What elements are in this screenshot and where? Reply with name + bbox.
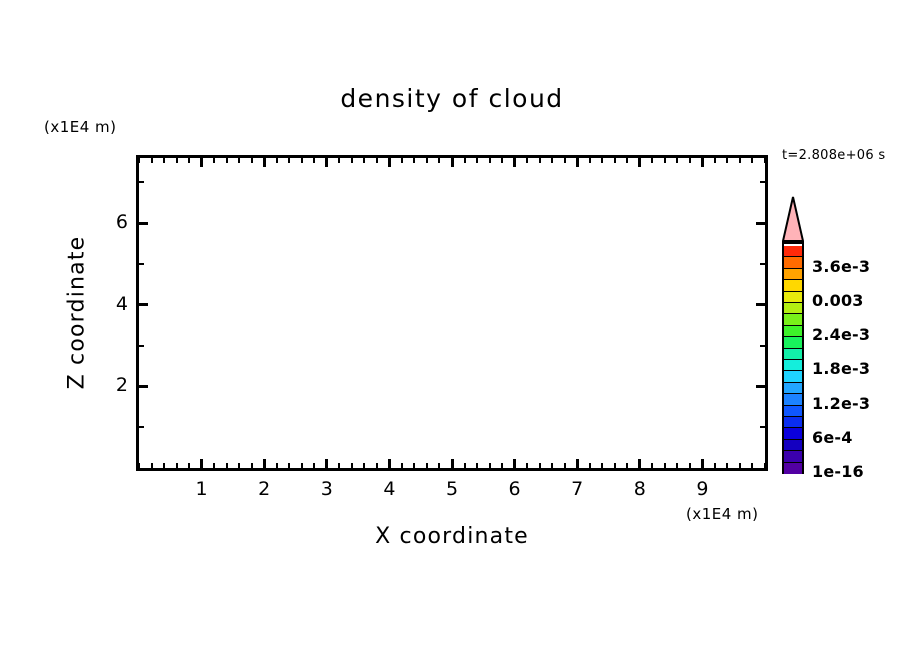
x-axis-minor-tick [138,158,140,163]
x-axis-minor-tick [301,158,303,163]
x-axis-major-tick [388,459,391,468]
x-axis-minor-tick [551,158,553,163]
x-axis-minor-tick [751,158,753,163]
x-axis-minor-tick [226,463,228,468]
x-axis-tick-label: 1 [182,478,222,500]
x-axis-minor-tick [526,463,528,468]
y-axis-major-tick [139,385,148,388]
x-axis-minor-tick [626,158,628,163]
x-axis-minor-tick [501,158,503,163]
x-axis-major-tick [451,459,454,468]
colorbar-tick-label: 3.6e-3 [812,257,870,276]
x-axis-minor-tick [376,463,378,468]
y-axis-unit-label: (x1E4 m) [44,118,117,136]
x-axis-tick-label: 4 [369,478,409,500]
x-axis-minor-tick [163,463,165,468]
x-axis-minor-tick [664,463,666,468]
colorbar-gradient [782,242,804,474]
x-axis-minor-tick [151,463,153,468]
x-axis-tick-label: 2 [244,478,284,500]
x-axis-tick-label: 3 [307,478,347,500]
x-axis-major-tick [263,459,266,468]
x-axis-minor-tick [313,158,315,163]
x-axis-minor-tick [213,463,215,468]
x-axis-minor-tick [564,463,566,468]
x-axis-tick-label: 6 [495,478,535,500]
x-axis-minor-tick [213,158,215,163]
x-axis-minor-tick [188,463,190,468]
x-axis-minor-tick [251,463,253,468]
x-axis-minor-tick [739,158,741,163]
x-axis-minor-tick [664,158,666,163]
colorbar: 3.6e-30.0032.4e-31.8e-31.2e-36e-41e-16 [780,196,904,486]
colorbar-tick-label: 0.003 [812,291,864,310]
colorbar-tick-label: 1e-16 [812,462,864,481]
x-axis-major-tick [200,459,203,468]
y-axis-major-tick [139,222,148,225]
y-axis-major-tick [756,222,765,225]
x-axis-minor-tick [489,463,491,468]
x-axis-minor-tick [676,463,678,468]
x-axis-minor-tick [564,158,566,163]
x-axis-tick-label: 5 [432,478,472,500]
colorbar-band [784,360,802,371]
y-axis-minor-tick [760,181,765,183]
x-axis-minor-tick [464,158,466,163]
colorbar-tick-label: 1.2e-3 [812,394,870,413]
y-axis-tick-label: 6 [88,211,128,233]
x-axis-major-tick [576,459,579,468]
x-axis-minor-tick [726,463,728,468]
x-axis-major-tick [513,459,516,468]
x-axis-minor-tick [689,158,691,163]
x-axis-minor-tick [614,158,616,163]
x-axis-minor-tick [614,463,616,468]
y-axis-major-tick [139,303,148,306]
x-axis-major-tick [638,158,641,167]
x-axis-major-tick [325,459,328,468]
x-axis-minor-tick [464,463,466,468]
colorbar-arrow-cap-icon [782,196,804,242]
colorbar-tick-label: 2.4e-3 [812,325,870,344]
colorbar-band [784,326,802,337]
x-axis-minor-tick [764,158,766,163]
y-axis-major-tick [756,385,765,388]
x-axis-major-tick [325,158,328,167]
x-axis-minor-tick [489,158,491,163]
x-axis-minor-tick [376,158,378,163]
y-axis-major-tick [756,303,765,306]
x-axis-major-tick [388,158,391,167]
x-axis-major-tick [701,158,704,167]
colorbar-band [784,394,802,405]
colorbar-band [784,428,802,439]
x-axis-minor-tick [363,463,365,468]
x-axis-minor-tick [438,158,440,163]
x-axis-minor-tick [601,463,603,468]
page-title: density of cloud [0,84,904,113]
y-axis-minor-tick [139,345,144,347]
x-axis-minor-tick [476,463,478,468]
x-axis-minor-tick [351,158,353,163]
x-axis-major-tick [200,158,203,167]
x-axis-minor-tick [176,463,178,468]
x-axis-minor-tick [751,463,753,468]
x-axis-minor-tick [676,158,678,163]
x-axis-minor-tick [651,463,653,468]
x-axis-unit-label: (x1E4 m) [686,505,759,523]
x-axis-minor-tick [338,463,340,468]
x-axis-major-tick [513,158,516,167]
colorbar-band [784,371,802,382]
y-axis-minor-tick [139,181,144,183]
x-axis-tick-label: 9 [682,478,722,500]
x-axis-minor-tick [726,158,728,163]
x-axis-minor-tick [238,158,240,163]
x-axis-major-tick [263,158,266,167]
x-axis-minor-tick [151,158,153,163]
x-axis-minor-tick [539,463,541,468]
x-axis-minor-tick [288,158,290,163]
x-axis-minor-tick [426,463,428,468]
x-axis-minor-tick [539,158,541,163]
y-axis-minor-tick [139,263,144,265]
x-axis-minor-tick [313,463,315,468]
x-axis-minor-tick [589,158,591,163]
x-axis-minor-tick [689,463,691,468]
x-axis-minor-tick [714,158,716,163]
x-axis-minor-tick [413,463,415,468]
timestamp-label: t=2.808e+06 s [782,148,885,163]
x-axis-tick-label: 8 [620,478,660,500]
colorbar-tick-label: 1.8e-3 [812,359,870,378]
x-axis-major-tick [576,158,579,167]
x-axis-minor-tick [276,463,278,468]
y-axis-tick-label: 4 [88,293,128,315]
colorbar-band [784,314,802,325]
x-axis-minor-tick [338,158,340,163]
x-axis-minor-tick [526,158,528,163]
x-axis-minor-tick [764,463,766,468]
colorbar-band [784,451,802,462]
x-axis-major-tick [701,459,704,468]
figure-root: density of cloud (x1E4 m) t=2.808e+06 s … [0,0,904,654]
colorbar-band [784,383,802,394]
x-axis-minor-tick [739,463,741,468]
x-axis-minor-tick [413,158,415,163]
x-axis-minor-tick [476,158,478,163]
colorbar-band [784,417,802,428]
colorbar-band [784,257,802,268]
x-axis-minor-tick [589,463,591,468]
x-axis-minor-tick [301,463,303,468]
x-axis-minor-tick [551,463,553,468]
colorbar-band [784,440,802,451]
colorbar-tick-label: 6e-4 [812,428,853,447]
x-axis-minor-tick [626,463,628,468]
x-axis-minor-tick [426,158,428,163]
y-axis-minor-tick [760,345,765,347]
x-axis-minor-tick [438,463,440,468]
x-axis-minor-tick [288,463,290,468]
x-axis-minor-tick [188,158,190,163]
x-axis-minor-tick [138,463,140,468]
x-axis-tick-label: 7 [557,478,597,500]
x-axis-minor-tick [176,158,178,163]
x-axis-minor-tick [238,463,240,468]
x-axis-minor-tick [251,158,253,163]
x-axis-minor-tick [651,158,653,163]
colorbar-band [784,269,802,280]
colorbar-band [784,303,802,314]
y-axis-minor-tick [760,263,765,265]
x-axis-minor-tick [276,158,278,163]
plot-frame [136,155,768,471]
x-axis-minor-tick [226,158,228,163]
x-axis-minor-tick [401,158,403,163]
colorbar-band [784,337,802,348]
x-axis-minor-tick [163,158,165,163]
colorbar-band [784,349,802,360]
colorbar-band [784,280,802,291]
y-axis-minor-tick [760,426,765,428]
x-axis-minor-tick [601,158,603,163]
x-axis-minor-tick [501,463,503,468]
x-axis-major-tick [451,158,454,167]
colorbar-band [784,463,802,474]
y-axis-minor-tick [139,426,144,428]
y-axis-tick-label: 2 [88,374,128,396]
x-axis-minor-tick [363,158,365,163]
x-axis-minor-tick [351,463,353,468]
x-axis-minor-tick [714,463,716,468]
colorbar-band [784,246,802,257]
x-axis-minor-tick [401,463,403,468]
x-axis-major-tick [638,459,641,468]
x-axis-title: X coordinate [0,524,904,549]
colorbar-band [784,406,802,417]
colorbar-band [784,292,802,303]
y-axis-title: Z coordinate [65,213,90,413]
